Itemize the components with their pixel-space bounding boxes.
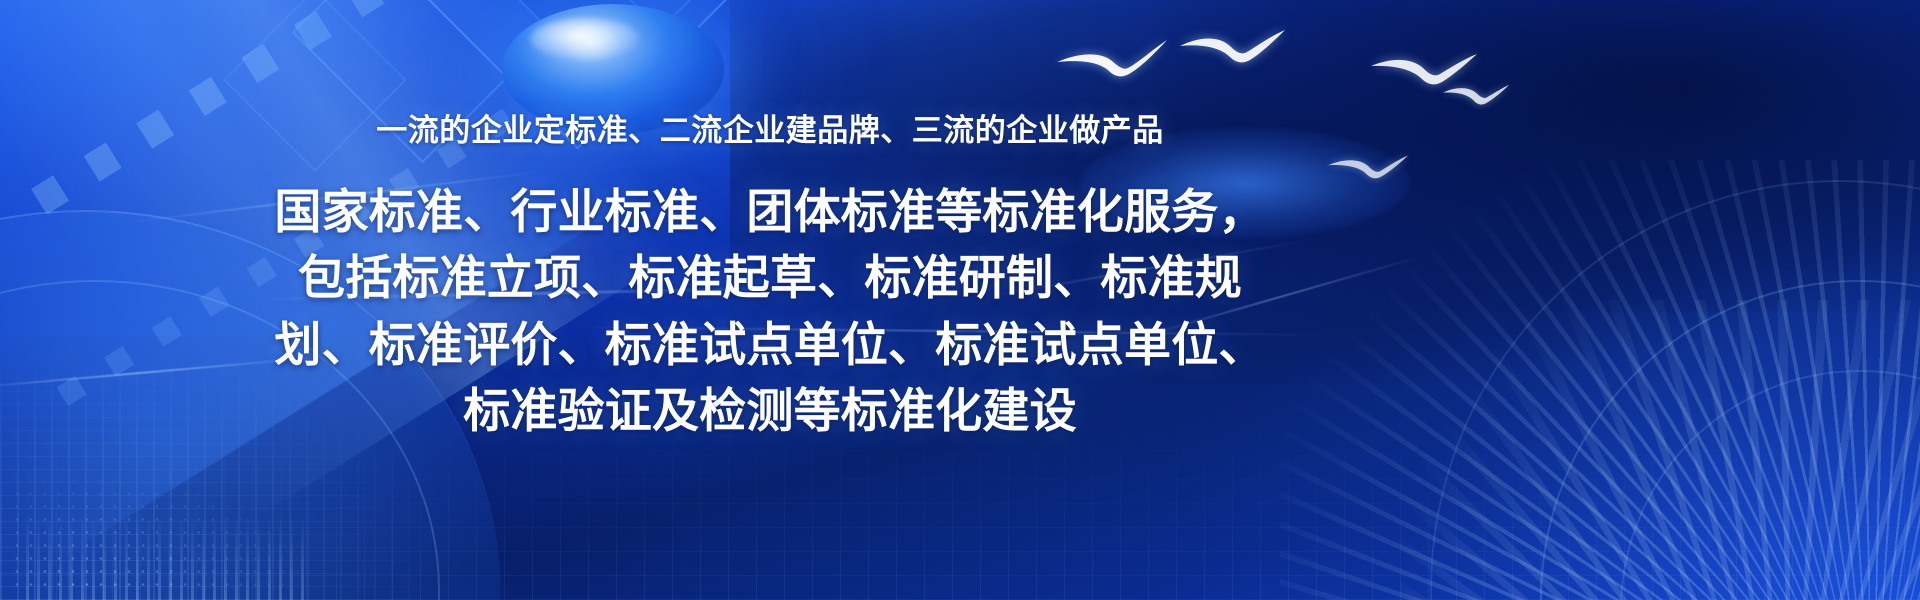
banner-tagline: 一流的企业定标准、二流企业建品牌、三流的企业做产品 bbox=[376, 112, 1164, 149]
banner-headline: 国家标准、行业标准、团体标准等标准化服务，包括标准立项、标准起草、标准研制、标准… bbox=[252, 179, 1288, 444]
promo-banner: 一流的企业定标准、二流企业建品牌、三流的企业做产品 国家标准、行业标准、团体标准… bbox=[0, 0, 1920, 600]
banner-copy: 一流的企业定标准、二流企业建品牌、三流的企业做产品 国家标准、行业标准、团体标准… bbox=[0, 0, 1540, 600]
